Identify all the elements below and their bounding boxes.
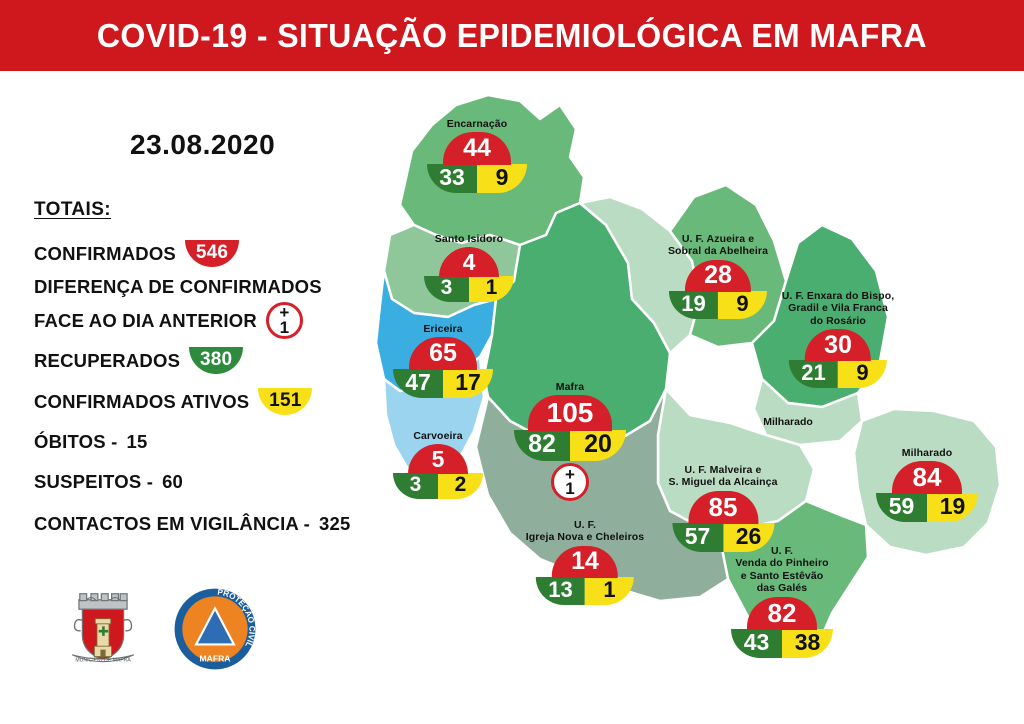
marker-active-enxara: 9 (838, 360, 887, 388)
marker-label-santo-isidoro: Santo Isidoro (435, 233, 503, 245)
marker-mafra[interactable]: Mafra 105 82 20 + 1 (514, 381, 626, 501)
plus-value-mafra: 1 (565, 482, 574, 496)
marker-label-enxara-line1: U. F. Enxara do Bispo, (782, 290, 894, 302)
marker-confirmed-carvoeira: 5 (408, 444, 468, 474)
marker-active-milharado: 19 (927, 493, 978, 522)
report-date: 23.08.2020 (130, 129, 275, 161)
statistics-panel: 23.08.2020 TOTAIS: CONFIRMADOS 546 DIFER… (0, 71, 370, 724)
totals-heading: TOTAIS: (34, 199, 111, 221)
stat-confirmados: CONFIRMADOS 546 (34, 240, 239, 267)
marker-confirmed-mafra: 105 (528, 395, 612, 431)
coat-of-arms-caption: MUNICÍPIO DE MAFRA (75, 657, 131, 664)
marker-label-encarnacao: Encarnação (447, 118, 508, 130)
marker-recovered-ericeira: 47 (393, 369, 443, 398)
marker-active-ericeira: 17 (443, 369, 493, 398)
marker-azueira-sobral[interactable]: U. F. Azueira e Sobral da Abelheira 28 1… (668, 233, 768, 319)
marker-confirmed-santo-isidoro: 4 (439, 247, 499, 277)
marker-confirmed-milharado: 84 (892, 461, 962, 494)
stat-label-diferenca-2: FACE AO DIA ANTERIOR (34, 310, 257, 332)
badge-confirmados: 546 (185, 240, 239, 267)
marker-encarnacao[interactable]: Encarnação 44 33 9 (427, 118, 527, 193)
plus-value: 1 (280, 321, 290, 335)
marker-label-malveira-line1: U. F. Malveira e (668, 464, 777, 476)
marker-label-azueira-line2: Sobral da Abelheira (668, 245, 768, 257)
marker-recovered-malveira: 57 (672, 523, 723, 552)
marker-venda-pinheiro[interactable]: U. F. Venda do Pinheiro e Santo Estêvão … (731, 545, 833, 658)
marker-recovered-venda: 43 (731, 629, 782, 658)
marker-label-milharado: Milharado (902, 447, 953, 459)
marker-label-carvoeira: Carvoeira (413, 430, 462, 442)
marker-active-azueira: 9 (718, 291, 767, 319)
stat-ativos: CONFIRMADOS ATIVOS 151 (34, 388, 312, 415)
marker-confirmed-venda: 82 (747, 597, 817, 630)
marker-label-igreja-line2: Igreja Nova e Cheleiros (526, 531, 644, 543)
marker-active-carvoeira: 2 (438, 473, 483, 499)
marker-enxara-gradil-vilafranca[interactable]: U. F. Enxara do Bispo, Gradil e Vila Fra… (782, 290, 894, 388)
marker-recovered-enxara: 21 (789, 360, 838, 388)
infographic-page: COVID-19 - SITUAÇÃO EPIDEMIOLÓGICA EM MA… (0, 0, 1024, 724)
stat-obitos: ÓBITOS - 15 (34, 431, 147, 453)
marker-label-mafra: Mafra (556, 381, 585, 393)
marker-label-venda-line1: U. F. (731, 545, 833, 557)
stat-label-ativos: CONFIRMADOS ATIVOS (34, 391, 249, 413)
municipio-de-mafra-coat-of-arms-icon: MUNICÍPIO DE MAFRA (60, 586, 146, 672)
marker-ericeira[interactable]: Ericeira 65 47 17 (393, 323, 493, 398)
marker-recovered-azueira: 19 (669, 291, 718, 319)
stat-diferenca-line1: DIFERENÇA DE CONFIRMADOS (34, 276, 322, 298)
marker-label-venda-line2: Venda do Pinheiro (731, 557, 833, 569)
marker-label-enxara-line2: Gradil e Vila Franca (782, 302, 894, 314)
logo-row: MUNICÍPIO DE MAFRA PROTEÇÃO CIVIL MAFRA (60, 586, 258, 672)
marker-milharado[interactable]: Milharado 84 59 19 (876, 447, 978, 522)
marker-label-venda-line3: e Santo Estêvão (731, 570, 833, 582)
marker-confirmed-azueira: 28 (685, 260, 751, 292)
badge-diferenca-circle: + 1 (266, 302, 303, 339)
stat-value-obitos: 15 (127, 431, 148, 453)
badge-ativos: 151 (258, 388, 312, 415)
stat-value-contactos: 325 (319, 513, 350, 535)
stat-diferenca-line2: FACE AO DIA ANTERIOR + 1 (34, 302, 303, 339)
marker-active-santo-isidoro: 1 (469, 276, 514, 302)
marker-active-igreja: 1 (585, 577, 634, 605)
stat-label-suspeitos: SUSPEITOS - (34, 471, 153, 493)
stat-contactos-vigilancia: CONTACTOS EM VIGILÂNCIA - 325 (34, 513, 350, 535)
marker-confirmed-encarnacao: 44 (443, 132, 511, 165)
marker-igreja-nova-cheleiros[interactable]: U. F. Igreja Nova e Cheleiros 14 13 1 (526, 519, 644, 605)
marker-confirmed-igreja: 14 (552, 546, 618, 578)
marker-active-mafra: 20 (570, 430, 626, 461)
stat-label-confirmados: CONFIRMADOS (34, 243, 176, 265)
marker-carvoeira[interactable]: Carvoeira 5 3 2 (393, 430, 483, 499)
marker-recovered-santo-isidoro: 3 (424, 276, 469, 302)
plus-circle-mafra: + 1 (551, 463, 589, 501)
protecao-civil-caption-bottom: MAFRA (199, 654, 230, 664)
marker-confirmed-ericeira: 65 (409, 337, 477, 370)
protecao-civil-mafra-logo-icon: PROTEÇÃO CIVIL MAFRA (172, 586, 258, 672)
stat-recuperados: RECUPERADOS 380 (34, 347, 243, 374)
marker-santo-isidoro[interactable]: Santo Isidoro 4 3 1 (424, 233, 514, 302)
badge-recuperados: 380 (189, 347, 243, 374)
stat-suspeitos: SUSPEITOS - 60 (34, 471, 183, 493)
marker-recovered-mafra: 82 (514, 430, 570, 461)
marker-recovered-igreja: 13 (536, 577, 585, 605)
marker-label-azueira-line1: U. F. Azueira e (668, 233, 768, 245)
marker-confirmed-malveira: 85 (688, 491, 758, 524)
mafra-municipality-map: Milharado Encarnação 44 33 9 Santo Isido… (370, 85, 1024, 710)
stat-label-recuperados: RECUPERADOS (34, 350, 180, 372)
stat-label-contactos: CONTACTOS EM VIGILÂNCIA - (34, 513, 310, 535)
page-header: COVID-19 - SITUAÇÃO EPIDEMIOLÓGICA EM MA… (0, 0, 1024, 71)
marker-recovered-milharado: 59 (876, 493, 927, 522)
marker-active-venda: 38 (782, 629, 833, 658)
marker-recovered-encarnacao: 33 (427, 164, 477, 193)
page-title: COVID-19 - SITUAÇÃO EPIDEMIOLÓGICA EM MA… (97, 17, 927, 55)
marker-label-enxara-line3: do Rosário (782, 315, 894, 327)
marker-plus-mafra: + 1 (514, 463, 626, 501)
marker-confirmed-enxara: 30 (805, 329, 871, 361)
marker-label-igreja-line1: U. F. (526, 519, 644, 531)
marker-recovered-carvoeira: 3 (393, 473, 438, 499)
stat-label-diferenca-1: DIFERENÇA DE CONFIRMADOS (34, 276, 322, 298)
stat-label-obitos: ÓBITOS - (34, 431, 118, 453)
marker-active-encarnacao: 9 (477, 164, 527, 193)
stat-value-suspeitos: 60 (162, 471, 183, 493)
marker-label-malveira-line2: S. Miguel da Alcainça (668, 476, 777, 488)
map-area-label-milharado: Milharado (763, 416, 813, 428)
marker-label-ericeira: Ericeira (423, 323, 462, 335)
marker-malveira-alcainca[interactable]: U. F. Malveira e S. Miguel da Alcainça 8… (668, 464, 777, 552)
marker-label-venda-line4: das Galés (731, 582, 833, 594)
